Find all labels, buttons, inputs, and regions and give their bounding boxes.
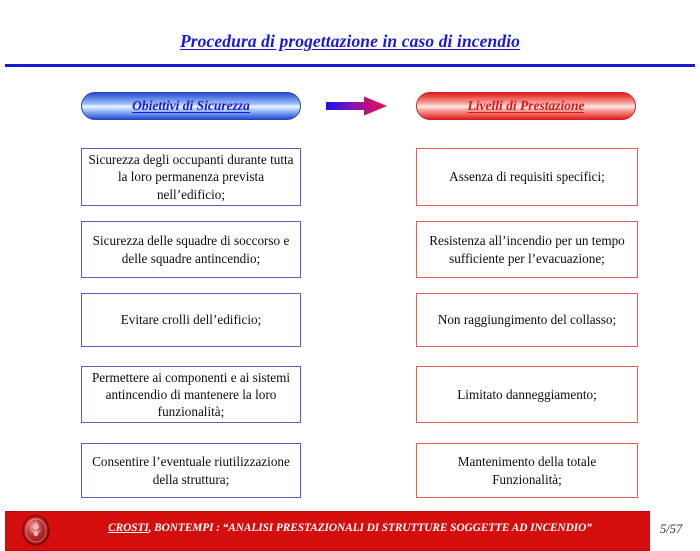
footer-author: CROSTI [108, 522, 149, 534]
objective-box-3-text: Evitare crolli dell’edificio; [121, 311, 262, 328]
column-header-performance-levels[interactable]: Livelli di Prestazione [416, 92, 636, 120]
objective-box-1-text: Sicurezza degli occupanti durante tutta … [88, 151, 294, 202]
objective-box-4[interactable]: Permettere ai componenti e ai sistemi an… [81, 366, 301, 423]
footer-citation-rest: , BONTEMPI : “ANALISI PRESTAZIONALI DI S… [149, 522, 592, 534]
performance-box-1[interactable]: Assenza di requisiti specifici; [416, 148, 638, 206]
performance-box-5-text: Mantenimento della totale Funzionalità; [423, 453, 631, 487]
title-divider [5, 64, 695, 67]
column-header-objectives[interactable]: Obiettivi di Sicurezza [81, 92, 301, 120]
performance-box-1-text: Assenza di requisiti specifici; [449, 168, 605, 185]
objective-box-5-text: Consentire l’eventuale riutilizzazione d… [88, 453, 294, 487]
objective-box-1[interactable]: Sicurezza degli occupanti durante tutta … [81, 148, 301, 206]
right-arrow-icon [326, 96, 388, 116]
objective-box-3[interactable]: Evitare crolli dell’edificio; [81, 293, 301, 347]
footer-citation: CROSTI, BONTEMPI : “ANALISI PRESTAZIONAL… [70, 522, 630, 534]
objective-box-5[interactable]: Consentire l’eventuale riutilizzazione d… [81, 443, 301, 498]
performance-box-3-text: Non raggiungimento del collasso; [438, 311, 616, 328]
objective-box-2-text: Sicurezza delle squadre di soccorso e de… [88, 232, 294, 266]
university-seal-icon [20, 515, 52, 546]
column-header-performance-levels-label: Livelli di Prestazione [468, 98, 585, 114]
objective-box-4-text: Permettere ai componenti e ai sistemi an… [88, 369, 294, 420]
performance-box-2-text: Resistenza all’incendio per un tempo suf… [423, 232, 631, 266]
performance-box-4-text: Limitato danneggiamento; [457, 386, 597, 403]
page-title: Procedura di progettazione in caso di in… [0, 31, 700, 52]
page-number: 5/57 [660, 522, 696, 537]
performance-box-5[interactable]: Mantenimento della totale Funzionalità; [416, 443, 638, 498]
performance-box-2[interactable]: Resistenza all’incendio per un tempo suf… [416, 221, 638, 278]
column-header-objectives-label: Obiettivi di Sicurezza [132, 98, 250, 114]
performance-box-4[interactable]: Limitato danneggiamento; [416, 366, 638, 423]
performance-box-3[interactable]: Non raggiungimento del collasso; [416, 293, 638, 347]
objective-box-2[interactable]: Sicurezza delle squadre di soccorso e de… [81, 221, 301, 278]
